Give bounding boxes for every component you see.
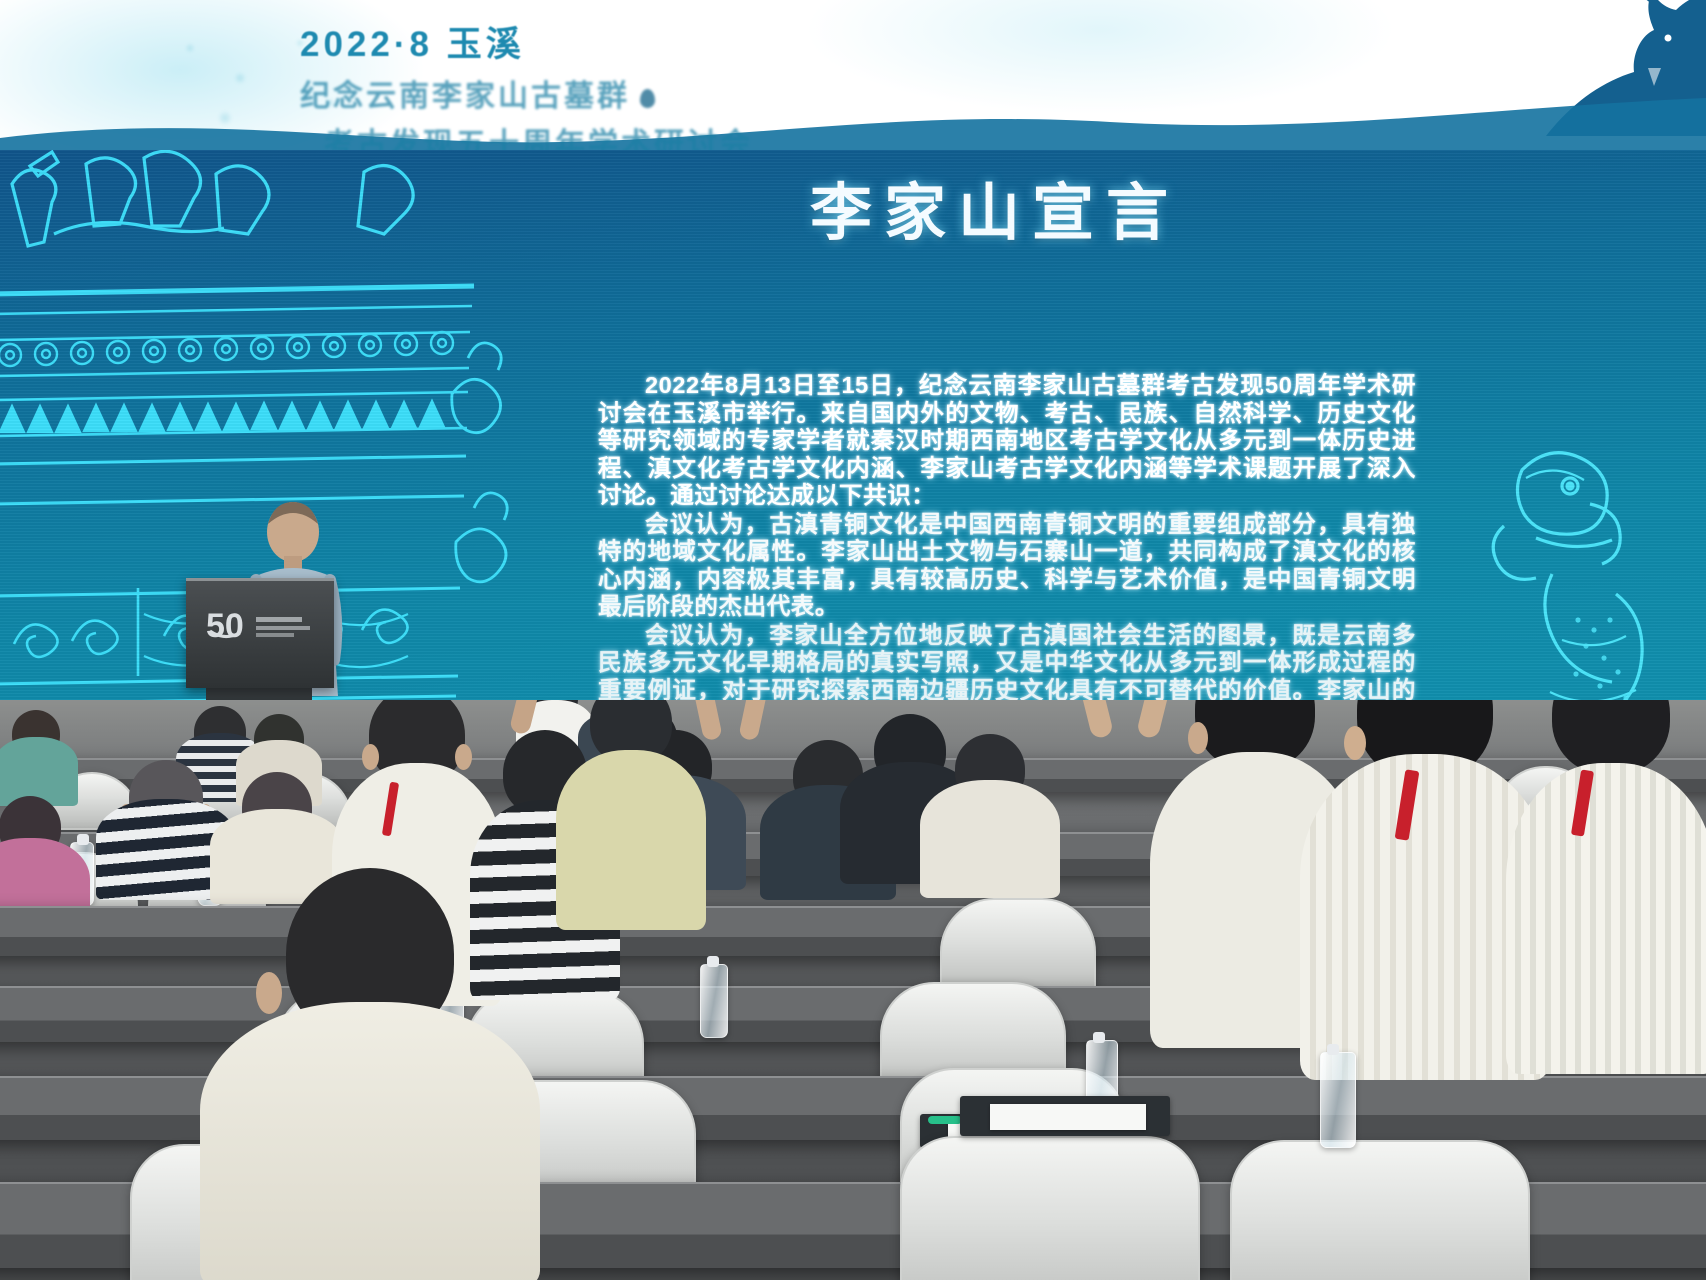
water-bottle[interactable] bbox=[1320, 1052, 1356, 1148]
audience-person bbox=[1506, 700, 1706, 1074]
svg-text:50: 50 bbox=[206, 607, 244, 645]
audience-person bbox=[920, 734, 1060, 898]
audience-person bbox=[556, 700, 706, 930]
banner-wave-decoration bbox=[0, 92, 1706, 150]
banner-subtitle-line2: 考古发现五十周年学术研讨会 bbox=[324, 119, 753, 150]
banner-subtitle-line1-text: 纪念云南李家山古墓群 bbox=[300, 80, 630, 113]
green-pen[interactable] bbox=[928, 1116, 962, 1124]
declaration-paragraph-2: 会议认为，古滇青铜文化是中国西南青铜文明的重要组成部分，具有独特的地域文化属性。… bbox=[598, 511, 1416, 621]
anniversary-50-logo: 50 bbox=[204, 605, 316, 647]
screen-title: 李家山宣言 bbox=[810, 162, 1180, 252]
auditorium-seating bbox=[0, 700, 1706, 1280]
water-bottle[interactable] bbox=[700, 964, 728, 1038]
chair[interactable] bbox=[1230, 1140, 1530, 1280]
arm bbox=[1076, 700, 1114, 740]
conference-handout[interactable] bbox=[990, 1104, 1146, 1130]
water-drop-icon bbox=[640, 89, 655, 108]
podium: 50 bbox=[186, 578, 334, 688]
declaration-paragraph-1: 2022年8月13日至15日，纪念云南李家山古墓群考古发现50周年学术研讨会在玉… bbox=[598, 372, 1416, 510]
banner-date: 2022·8 玉溪 bbox=[300, 16, 753, 67]
chair[interactable] bbox=[900, 1136, 1200, 1280]
conference-photo: 2022·8 玉溪 纪念云南李家山古墓群 考古发现五十周年学术研讨会 bbox=[0, 0, 1706, 1280]
event-banner: 2022·8 玉溪 纪念云南李家山古墓群 考古发现五十周年学术研讨会 bbox=[0, 0, 1706, 150]
banner-text-block: 2022·8 玉溪 纪念云南李家山古墓群 考古发现五十周年学术研讨会 bbox=[300, 16, 753, 150]
audience-person bbox=[0, 710, 78, 806]
banner-subtitle-line1: 纪念云南李家山古墓群 bbox=[300, 71, 753, 115]
audience-person bbox=[200, 868, 540, 1280]
